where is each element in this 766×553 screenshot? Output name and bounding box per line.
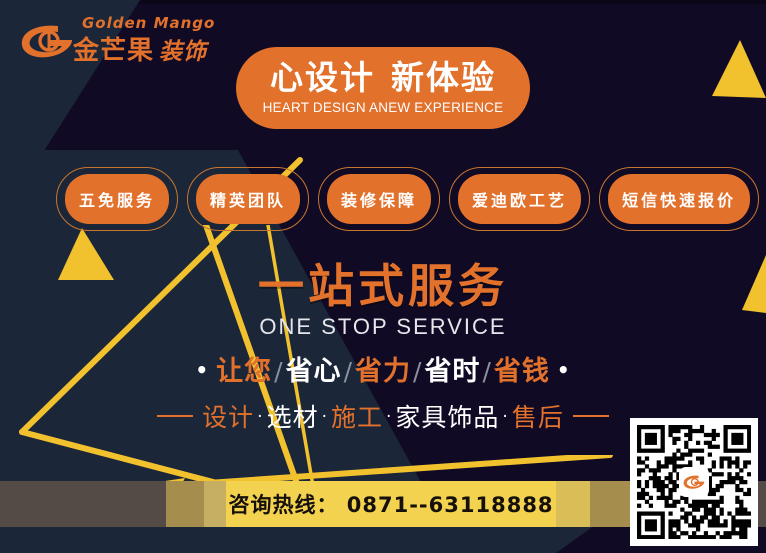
- feature-pill-label: 短信快速报价: [622, 187, 736, 211]
- hero-english-slogan: HEART DESIGN ANEW EXPERIENCE: [263, 100, 504, 115]
- benefits-sep-2: /: [413, 357, 422, 386]
- qr-center-logo: [679, 467, 709, 497]
- services-rule-left: [157, 415, 193, 417]
- poster-canvas: Golden Mango 金芒果装饰 心设计新体验 HEART DESIGN A…: [0, 0, 766, 553]
- benefit-item-1: 省心: [286, 356, 342, 387]
- brand-chinese-name: 金芒果装饰: [73, 30, 207, 67]
- main-heading-chinese: 一站式服务: [0, 262, 766, 310]
- hero-slogan-pill: 心设计新体验 HEART DESIGN ANEW EXPERIENCE: [236, 47, 530, 129]
- main-heading-english: ONE STOP SERVICE: [0, 314, 766, 340]
- benefits-trail-dot: •: [557, 358, 571, 382]
- hotline-bar: 咨询热线： 0871--63118888: [226, 481, 556, 527]
- feature-pill-row: 五免服务 精英团队 装修保障 爱迪欧工艺 短信快速报价: [56, 167, 716, 231]
- benefits-sep-1: /: [344, 357, 353, 386]
- brand-chinese-main: 金芒果: [73, 36, 154, 66]
- feature-pill-label: 爱迪欧工艺: [472, 187, 567, 211]
- services-sep-2: ·: [386, 407, 392, 427]
- feature-pill-4[interactable]: 短信快速报价: [599, 167, 759, 231]
- services-rule-right: [573, 415, 609, 417]
- feature-pill-label: 精英团队: [210, 187, 286, 211]
- yellow-triangle-top-right-icon: [712, 40, 766, 98]
- feature-pill-0[interactable]: 五免服务: [56, 167, 178, 231]
- feature-pill-1[interactable]: 精英团队: [187, 167, 309, 231]
- golden-mango-g-mark-icon: [682, 474, 706, 490]
- hero-chinese-slogan: 心设计新体验: [270, 61, 496, 96]
- main-heading: 一站式服务 ONE STOP SERVICE: [0, 262, 766, 340]
- benefits-lead-dot: •: [195, 358, 209, 382]
- feature-pill-3[interactable]: 爱迪欧工艺: [449, 167, 590, 231]
- hero-chinese-a: 心设计: [270, 58, 375, 97]
- benefit-item-0: 让您: [216, 356, 272, 387]
- benefit-item-2: 省力: [355, 356, 411, 387]
- benefit-item-4: 省钱: [494, 356, 550, 387]
- top-edge-strip: [0, 0, 766, 4]
- qr-code[interactable]: [630, 418, 758, 546]
- service-item-3: 家具饰品: [395, 403, 499, 432]
- services-sep-1: ·: [322, 407, 328, 427]
- bottom-block: [590, 481, 634, 527]
- brand-chinese-suffix: 装饰: [159, 39, 207, 65]
- benefits-row: •让您/省心/省力/省时/省钱•: [0, 349, 766, 388]
- feature-pill-label: 装修保障: [341, 187, 417, 211]
- service-item-1: 选材: [267, 403, 319, 432]
- service-item-2: 施工: [331, 403, 383, 432]
- services-sep-3: ·: [502, 407, 508, 427]
- brand-logo[interactable]: Golden Mango 金芒果装饰: [18, 16, 218, 64]
- benefit-item-3: 省时: [424, 356, 480, 387]
- bottom-block: [0, 481, 166, 527]
- bottom-block: [166, 481, 204, 527]
- services-sep-0: ·: [257, 407, 263, 427]
- feature-pill-2[interactable]: 装修保障: [318, 167, 440, 231]
- hotline-text: 咨询热线： 0871--63118888: [228, 489, 553, 519]
- feature-pill-label: 五免服务: [79, 187, 155, 211]
- bottom-block: [204, 481, 226, 527]
- golden-mango-g-mark-icon: [18, 22, 76, 60]
- service-item-0: 设计: [202, 403, 254, 432]
- service-item-4: 售后: [512, 403, 564, 432]
- benefits-sep-3: /: [482, 357, 491, 386]
- bottom-block: [556, 481, 590, 527]
- hero-chinese-b: 新体验: [391, 58, 496, 97]
- benefits-sep-0: /: [274, 357, 283, 386]
